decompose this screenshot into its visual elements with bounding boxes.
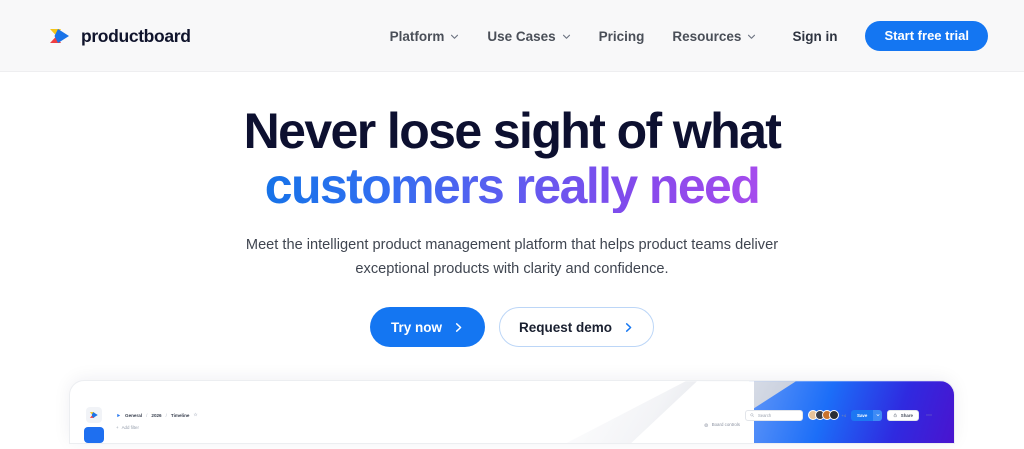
product-screenshot-preview: General / 2026 / Timeline ☆ Search bbox=[70, 381, 954, 443]
sign-in-link[interactable]: Sign in bbox=[776, 21, 853, 52]
breadcrumb-item-timeline[interactable]: Timeline bbox=[171, 413, 190, 418]
main-navigation: Platform Use Cases Pricing Resources Sig… bbox=[376, 21, 988, 52]
request-demo-button[interactable]: Request demo bbox=[499, 307, 654, 347]
request-demo-label: Request demo bbox=[519, 320, 612, 335]
nav-item-use-cases[interactable]: Use Cases bbox=[473, 21, 584, 52]
headline-line-2: customers really need bbox=[265, 159, 759, 214]
hero-subheading: Meet the intelligent product management … bbox=[232, 234, 792, 281]
share-button[interactable]: Share bbox=[887, 410, 919, 421]
chevron-down-icon bbox=[747, 31, 756, 41]
nav-label: Platform bbox=[390, 29, 445, 44]
subheading-line-1: Meet the intelligent product management … bbox=[246, 237, 731, 253]
board-controls-label: Board controls bbox=[712, 422, 740, 427]
headline-line-1: Never lose sight of what bbox=[244, 103, 781, 159]
app-topbar: General / 2026 / Timeline ☆ Search bbox=[70, 405, 954, 425]
nav-item-resources[interactable]: Resources bbox=[658, 21, 770, 52]
chevron-down-icon[interactable] bbox=[873, 410, 882, 421]
share-label: Share bbox=[901, 413, 913, 418]
save-button[interactable]: Save bbox=[851, 410, 882, 421]
try-now-button[interactable]: Try now bbox=[370, 307, 485, 347]
site-header: productboard Platform Use Cases Pricing … bbox=[0, 0, 1024, 72]
plus-icon: + bbox=[116, 425, 119, 430]
nav-item-platform[interactable]: Platform bbox=[376, 21, 474, 52]
add-filter-label: Add filter bbox=[122, 425, 139, 430]
chevron-right-icon bbox=[453, 322, 464, 333]
hero-cta-row: Try now Request demo bbox=[0, 307, 1024, 347]
ellipsis-icon[interactable]: ⋯ bbox=[924, 412, 934, 419]
app-sidebar-item[interactable] bbox=[84, 427, 104, 443]
nav-label: Pricing bbox=[599, 29, 645, 44]
nav-label: Resources bbox=[672, 29, 741, 44]
gear-icon bbox=[704, 423, 709, 428]
chevron-down-icon bbox=[562, 31, 571, 41]
chevron-down-icon bbox=[450, 31, 459, 41]
try-now-label: Try now bbox=[391, 320, 442, 335]
page-title: Never lose sight of what customers reall… bbox=[0, 104, 1024, 213]
breadcrumb-item-general[interactable]: General bbox=[125, 413, 142, 418]
star-icon[interactable]: ☆ bbox=[193, 412, 197, 418]
hero-section: Never lose sight of what customers reall… bbox=[0, 72, 1024, 347]
search-icon bbox=[750, 413, 755, 418]
search-input[interactable]: Search bbox=[745, 410, 803, 421]
board-controls-button[interactable]: Board controls bbox=[704, 422, 740, 427]
breadcrumb-item-2026[interactable]: 2026 bbox=[151, 413, 161, 418]
productboard-logo-icon bbox=[48, 24, 72, 48]
product-screenshot-card: General / 2026 / Timeline ☆ Search bbox=[70, 381, 954, 443]
app-topbar-actions: Search +4 Save bbox=[745, 410, 954, 421]
brand-name: productboard bbox=[81, 26, 191, 47]
breadcrumb-separator: / bbox=[166, 413, 167, 418]
breadcrumb: General / 2026 / Timeline ☆ bbox=[116, 412, 197, 418]
avatar bbox=[829, 410, 839, 420]
avatar-group[interactable]: +4 bbox=[808, 410, 846, 420]
play-icon bbox=[116, 413, 121, 418]
save-label: Save bbox=[851, 410, 873, 421]
brand-logo[interactable]: productboard bbox=[48, 24, 191, 48]
nav-item-pricing[interactable]: Pricing bbox=[585, 21, 659, 52]
lock-icon bbox=[893, 413, 898, 418]
nav-label: Use Cases bbox=[487, 29, 555, 44]
avatar-overflow-count: +4 bbox=[841, 413, 846, 418]
chevron-right-icon bbox=[623, 322, 634, 333]
breadcrumb-separator: / bbox=[146, 413, 147, 418]
start-free-trial-button[interactable]: Start free trial bbox=[865, 21, 988, 51]
app-logo-icon[interactable] bbox=[86, 407, 102, 423]
add-filter-button[interactable]: + Add filter bbox=[116, 425, 139, 430]
search-placeholder: Search bbox=[758, 413, 771, 418]
